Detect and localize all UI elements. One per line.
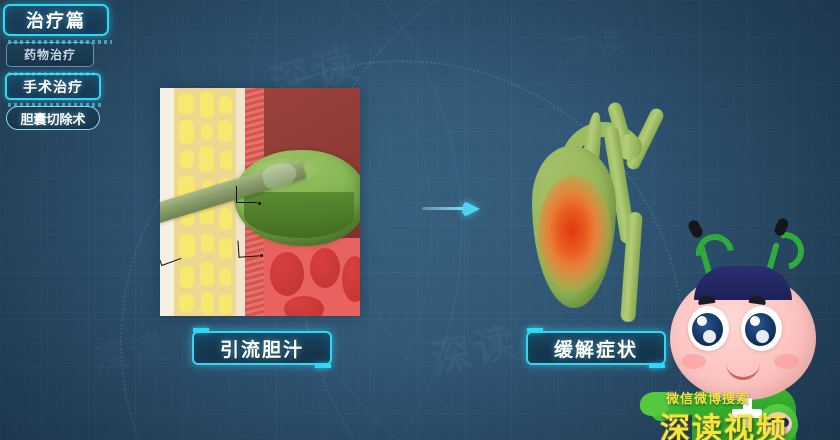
suture-mark: [236, 186, 257, 203]
sidebar: 治疗篇 药物治疗 手术治疗 胆囊切除术: [0, 4, 130, 136]
inflammation-area: [538, 174, 612, 292]
sidebar-item-label: 治疗篇: [26, 7, 86, 33]
sidebar-item-label: 胆囊切除术: [20, 109, 85, 128]
brand-title: 深读视频: [660, 404, 788, 440]
decor-ticks: [8, 72, 94, 76]
sidebar-item-surgical-treatment[interactable]: 手术治疗: [5, 73, 101, 100]
decor-ticks: [8, 103, 104, 107]
mascot-cheek-right: [774, 354, 799, 369]
antenna-tip-left: [686, 218, 704, 239]
caption-label: 缓解症状: [554, 335, 638, 362]
decor-ticks: [8, 40, 112, 44]
right-arrow-icon: [422, 200, 482, 218]
bile: [244, 192, 354, 238]
sidebar-item-label: 药物治疗: [24, 46, 76, 63]
screen-root: 深读 深读 深读 深读 治疗篇 药物治疗 手术治疗 胆囊切除术: [0, 0, 840, 440]
left-illustration: [160, 88, 360, 316]
sidebar-item-label: 手术治疗: [23, 77, 83, 97]
bowel: [264, 238, 360, 316]
sidebar-item-chapter[interactable]: 治疗篇: [3, 4, 109, 36]
sidebar-item-cholecystectomy[interactable]: 胆囊切除术: [6, 106, 100, 130]
mascot-cheek-left: [681, 354, 706, 369]
suture-mark: [237, 239, 259, 257]
caption-relieve-symptoms: 缓解症状: [526, 331, 666, 365]
caption-label: 引流胆汁: [220, 335, 304, 362]
caption-drain-bile: 引流胆汁: [192, 331, 332, 365]
sidebar-item-drug-therapy[interactable]: 药物治疗: [6, 42, 94, 67]
